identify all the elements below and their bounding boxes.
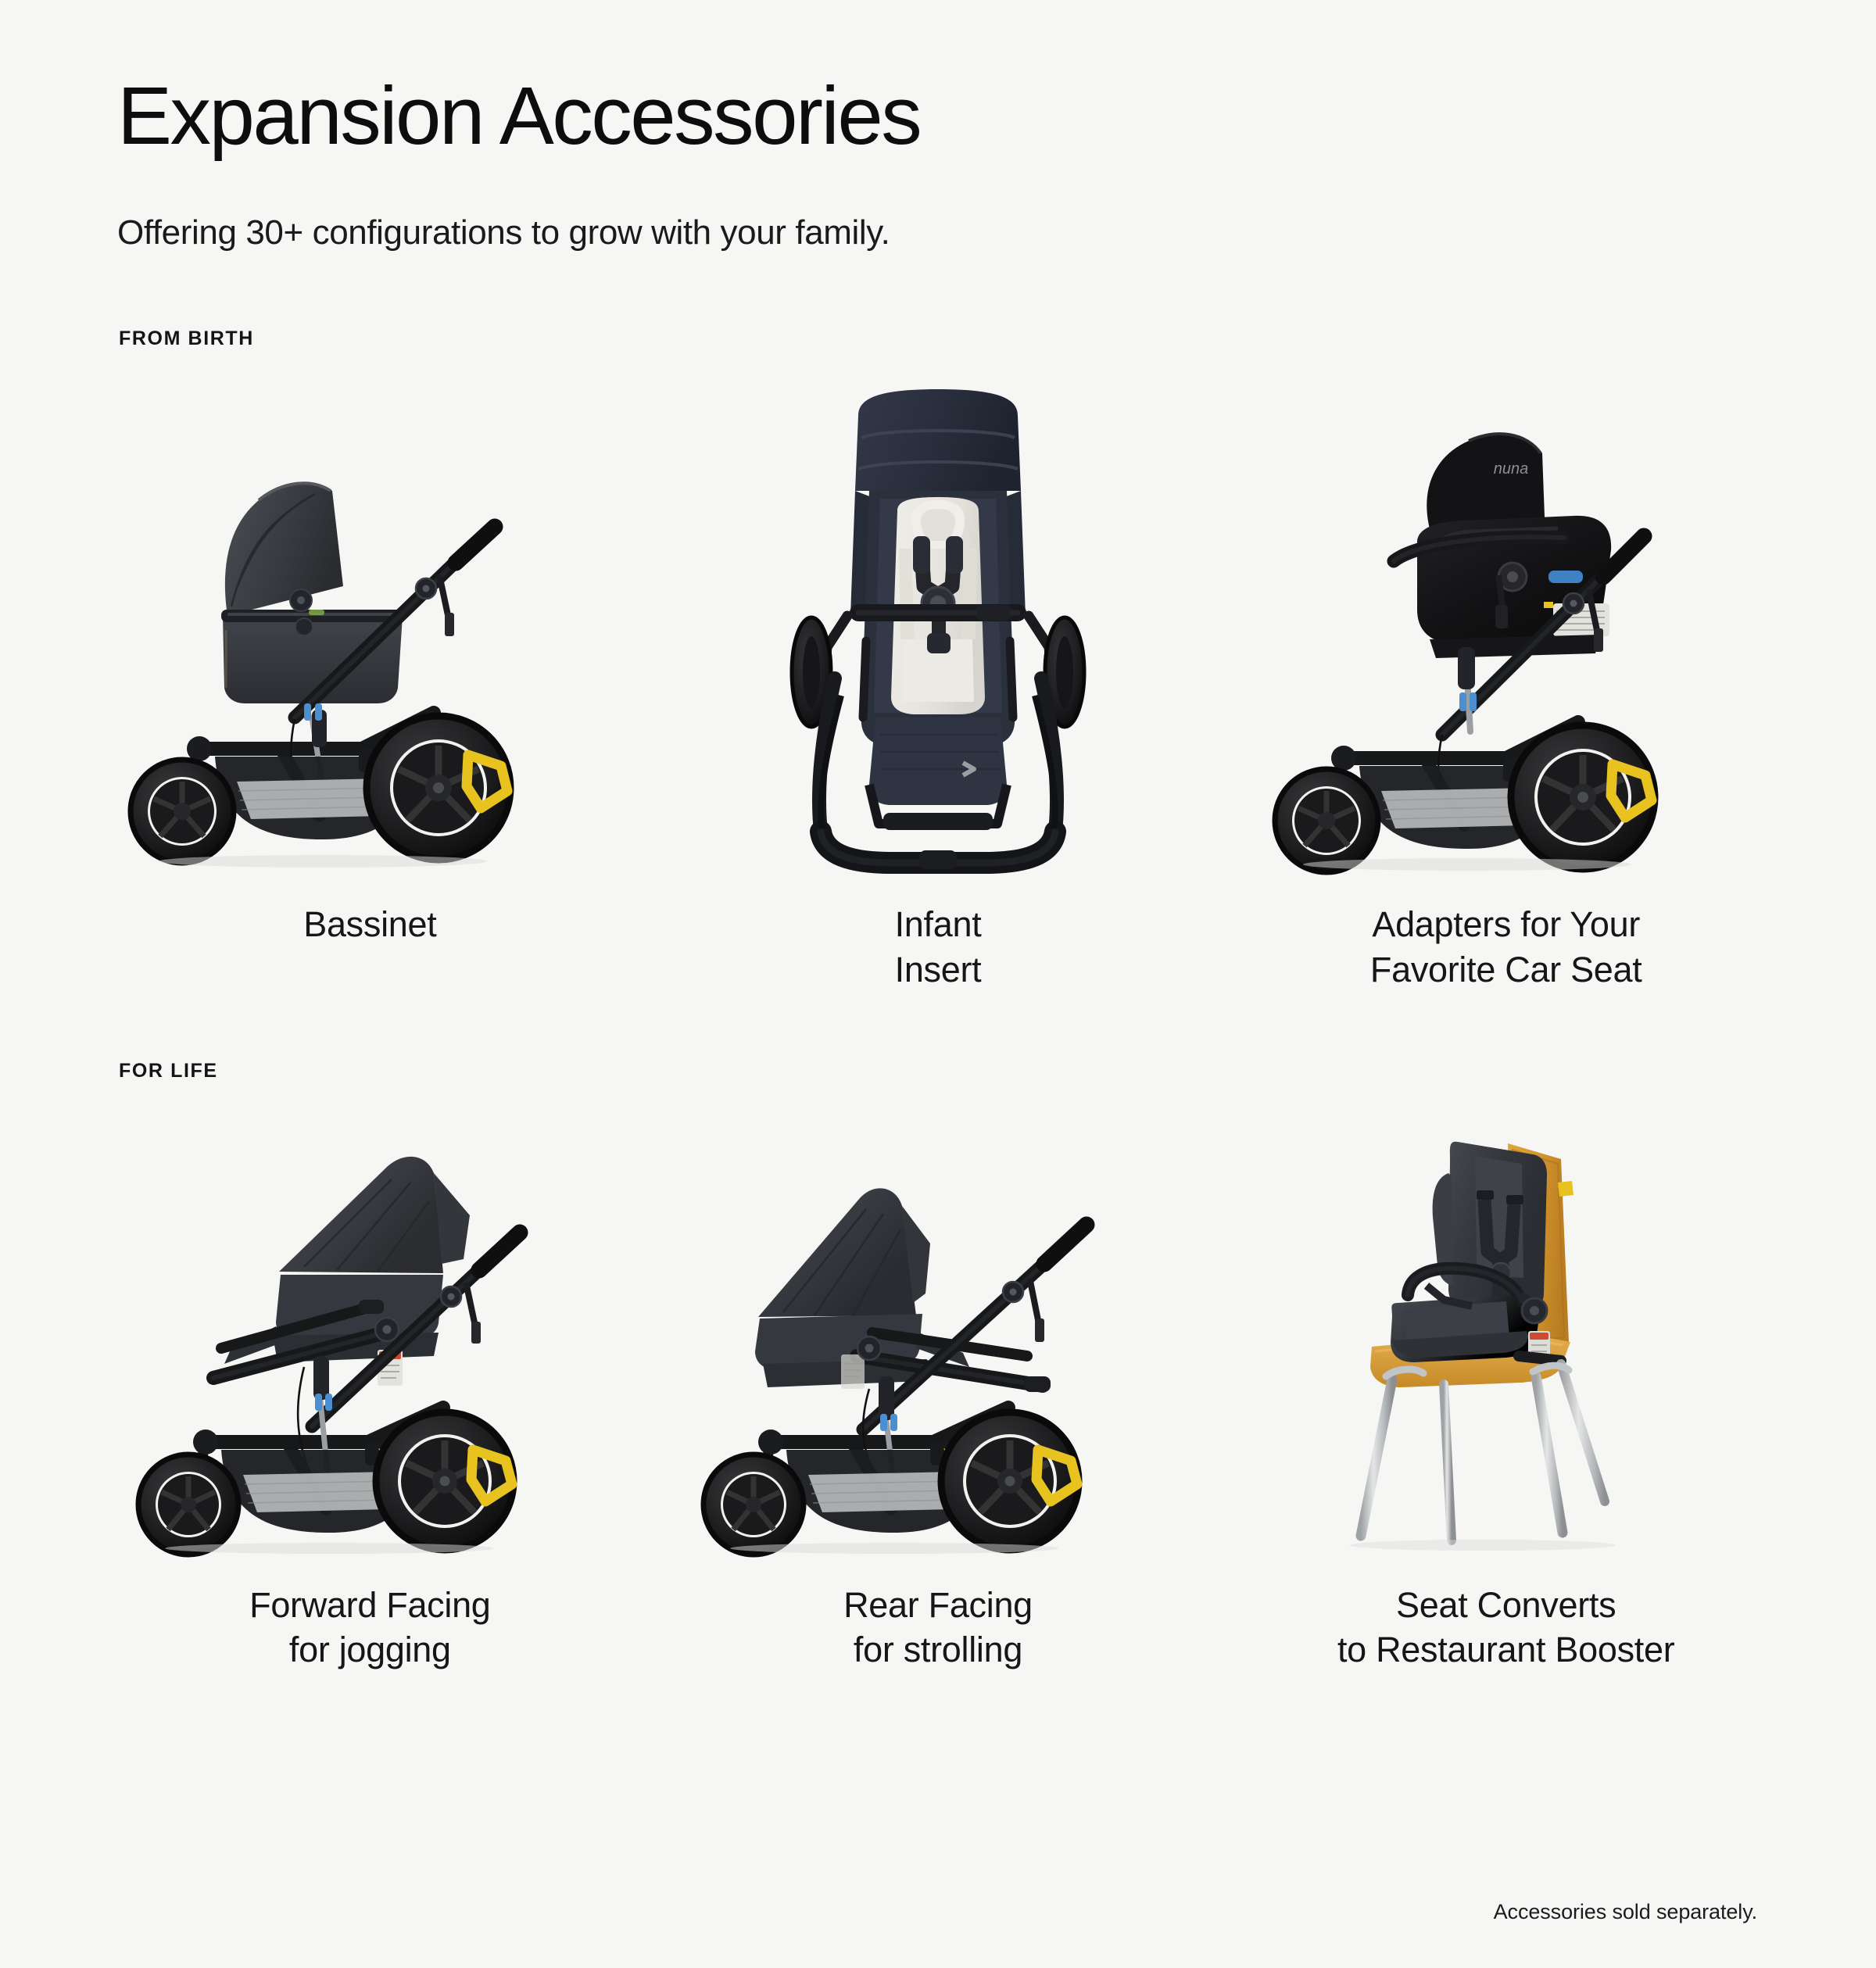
product-caption-rear-facing: Rear Facing for strolling (843, 1583, 1033, 1673)
product-row-from-birth: veer (0, 350, 1876, 992)
bassinet-stroller-figure: veer (86, 350, 654, 866)
car-seat-adapter-figure: nuna (1222, 350, 1790, 866)
product-caption-forward-facing: Forward Facing for jogging (249, 1583, 490, 1673)
rear-wheel (1511, 725, 1655, 869)
product-cell-forward-facing[interactable]: veer (86, 1082, 654, 1673)
rear-facing-stroller-illustration: veer (696, 1098, 1180, 1551)
product-caption-bassinet: Bassinet (303, 902, 436, 947)
footnote-accessories-sold-separately: Accessories sold separately. (1494, 1900, 1757, 1924)
forward-facing-stroller-illustration: veer (127, 1098, 612, 1551)
booster-seat-on-chair-illustration (1326, 1098, 1686, 1551)
product-caption-car-seat-adapters: Adapters for Your Favorite Car Seat (1370, 902, 1642, 992)
front-wheel (138, 1455, 238, 1555)
nuna-brand-mark: nuna (1493, 460, 1528, 478)
product-caption-infant-insert: Infant Insert (895, 902, 982, 992)
product-cell-booster-seat[interactable]: Seat Converts to Restaurant Booster (1222, 1082, 1790, 1673)
product-cell-car-seat-adapters[interactable]: nuna (1222, 350, 1790, 992)
section-label-from-birth: FROM BIRTH (0, 327, 1876, 350)
page-header: Expansion Accessories Offering 30+ confi… (0, 0, 1876, 257)
front-wheel (703, 1455, 804, 1555)
forward-facing-figure: veer (86, 1082, 654, 1551)
product-caption-booster-seat: Seat Converts to Restaurant Booster (1337, 1583, 1674, 1673)
product-cell-bassinet[interactable]: veer (86, 350, 654, 992)
rear-wheel (367, 716, 510, 860)
bassinet-stroller-illustration: veer (127, 381, 612, 866)
front-wheel (1275, 769, 1378, 872)
page-title: Expansion Accessories (117, 75, 1876, 157)
rear-wheel (941, 1412, 1079, 1550)
expansion-accessories-page: Expansion Accessories Offering 30+ confi… (0, 0, 1876, 1968)
product-row-for-life: veer (0, 1082, 1876, 1673)
infant-insert-stroller-front-illustration (766, 381, 1110, 866)
product-cell-rear-facing[interactable]: veer (654, 1082, 1223, 1673)
car-seat-adapter-stroller-illustration: nuna (1264, 381, 1749, 866)
rear-wheel (376, 1412, 514, 1550)
chair-legs (1361, 1364, 1605, 1540)
infant-insert-figure (654, 350, 1223, 866)
section-label-for-life: FOR LIFE (0, 1060, 1876, 1082)
page-subtitle: Offering 30+ configurations to grow with… (117, 209, 1876, 257)
booster-seat-figure (1222, 1082, 1790, 1551)
front-wheel (131, 760, 234, 863)
product-cell-infant-insert[interactable]: Infant Insert (654, 350, 1223, 992)
rear-facing-figure: veer (654, 1082, 1223, 1551)
